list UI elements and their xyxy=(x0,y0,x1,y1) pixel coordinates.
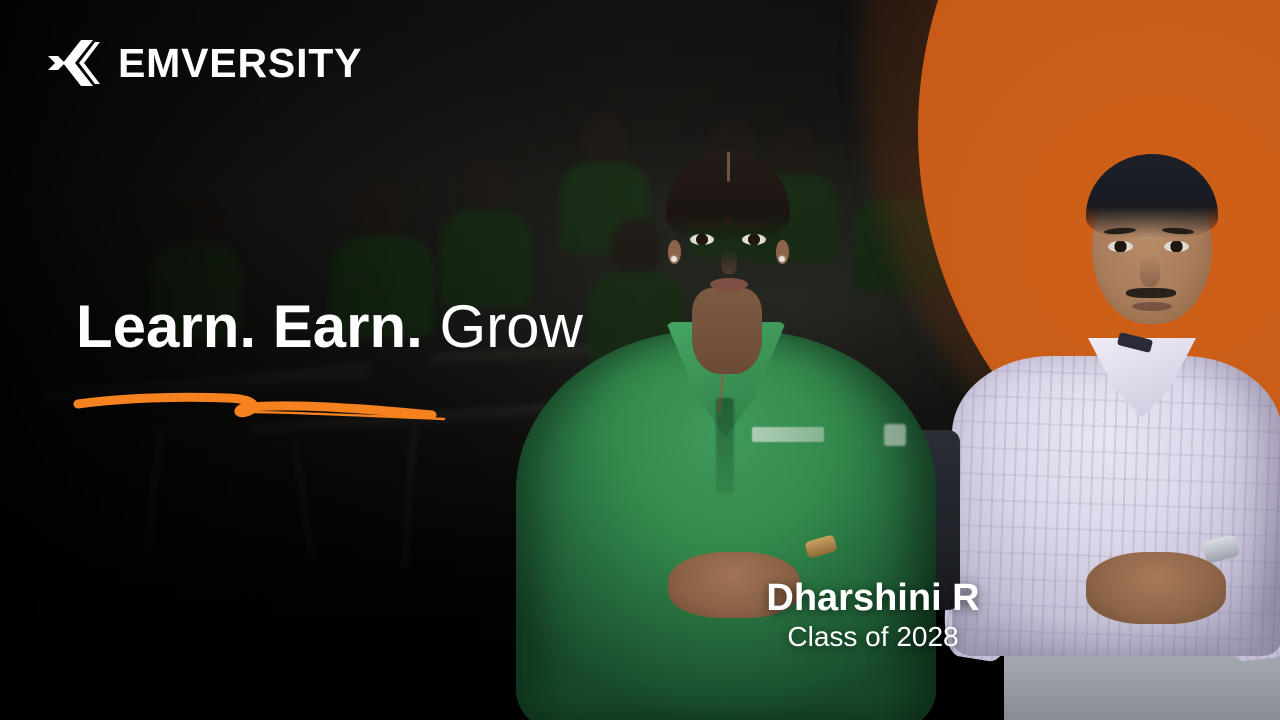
orange-squiggle-underline-icon xyxy=(60,382,460,432)
person-right-mouth xyxy=(1132,302,1172,311)
person-right-eye xyxy=(1108,241,1133,252)
person-right-hands xyxy=(1086,552,1226,624)
uniform-chest-logo xyxy=(752,427,824,442)
person-center-bindi xyxy=(725,219,731,225)
person-center-eye xyxy=(690,234,714,245)
brand-logo[interactable]: EMVERSITY xyxy=(48,40,362,86)
person-center-earring xyxy=(671,256,677,262)
person-center-nose xyxy=(721,248,737,274)
page-title: Learn. Earn. Grow xyxy=(76,297,583,357)
person-right-nose xyxy=(1140,255,1160,287)
student-class: Class of 2028 xyxy=(640,619,1106,655)
emversity-chevron-icon xyxy=(48,40,100,86)
brand-wordmark: EMVERSITY xyxy=(118,43,362,84)
headline-light: Grow xyxy=(423,293,583,360)
person-center-hair-part xyxy=(727,152,730,182)
uniform-sleeve-logo xyxy=(884,424,906,446)
person-right-eye xyxy=(1164,241,1189,252)
lower-third-namecard: Dharshini R Class of 2028 xyxy=(640,578,1106,655)
person-center-lips xyxy=(710,278,748,291)
person-center-earring xyxy=(779,256,785,262)
headline-strong: Learn. Earn. xyxy=(76,293,423,360)
video-thumbnail-frame: EMVERSITY Learn. Earn. Grow Dharshini R … xyxy=(0,0,1280,720)
person-right-moustache xyxy=(1126,288,1176,298)
person-center-eye xyxy=(742,234,766,245)
student-name: Dharshini R xyxy=(640,578,1106,619)
